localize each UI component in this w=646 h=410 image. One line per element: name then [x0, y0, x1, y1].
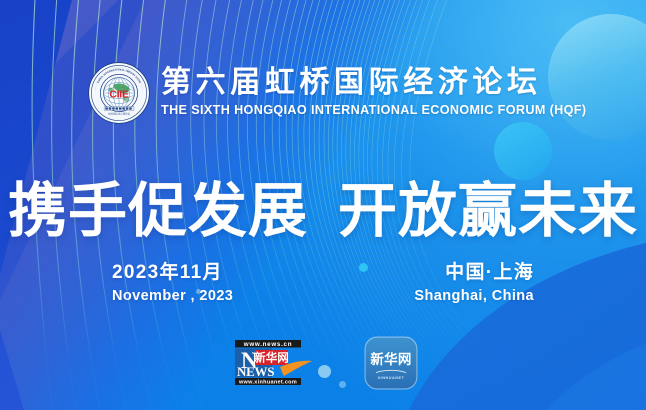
forum-title-en: THE SIXTH HONGQIAO INTERNATIONAL ECONOMI…	[161, 103, 586, 119]
hqf-forum-banner: CHINA INTERNATIONAL IMPORT EXPO C	[0, 0, 646, 410]
xinhua-appicon-logo[interactable]: 新华网 XINHUANET	[364, 336, 418, 390]
decorative-circle-medium	[494, 122, 552, 180]
forum-date-en: November , 2023	[112, 287, 233, 306]
footer-logo-row: www.news.cn N NEWS 新华网 www.xinhuanet.com	[0, 336, 646, 390]
xinhua-appicon-sub: XINHUANET	[378, 376, 405, 380]
xinhua-top-url: www.news.cn	[243, 341, 292, 348]
forum-title-group: 第六届虹桥国际经济论坛 THE SIXTH HONGQIAO INTERNATI…	[161, 67, 586, 119]
xinhua-mark-cn: 新华网	[254, 351, 289, 365]
forum-header: CHINA INTERNATIONAL IMPORT EXPO C	[88, 62, 586, 124]
slogan-part-two: 开放赢未来	[338, 178, 638, 244]
forum-date-cn: 2023年11月	[112, 262, 223, 284]
forum-meta-row: 2023年11月 November , 2023 中国·上海 Shanghai,…	[0, 262, 646, 306]
slogan-part-one: 携手促发展	[8, 178, 308, 244]
ciie-emblem-ring-text-cn: 中国国际进口博览会	[108, 112, 131, 116]
ciie-emblem-icon: CHINA INTERNATIONAL IMPORT EXPO C	[88, 62, 150, 124]
xinhua-appicon-cn: 新华网	[370, 351, 411, 367]
forum-date: 2023年11月 November , 2023	[112, 262, 233, 306]
xinhua-bottom-url: www.xinhuanet.com	[238, 380, 297, 386]
forum-slogan: 携手促发展开放赢未来	[0, 182, 646, 241]
ciie-emblem-abbr: CIIE	[109, 88, 129, 100]
forum-title-cn: 第六届虹桥国际经济论坛	[161, 67, 586, 99]
forum-place: 中国·上海 Shanghai, China	[414, 262, 534, 306]
xinhua-wordmark-logo[interactable]: www.news.cn N NEWS 新华网 www.xinhuanet.com	[228, 338, 316, 388]
forum-place-en: Shanghai, China	[414, 287, 534, 306]
xinhua-mark-en: NEWS	[237, 364, 274, 379]
forum-place-cn: 中国·上海	[445, 262, 534, 284]
